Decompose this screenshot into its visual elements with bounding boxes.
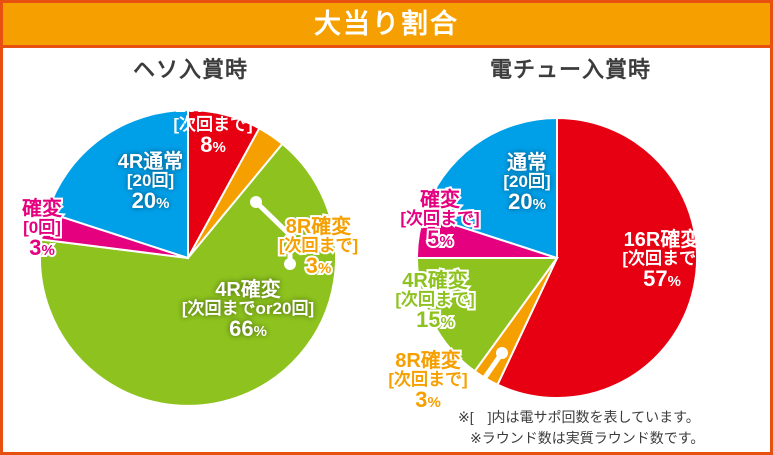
pie-chart-right: 通常 [20回] 20% 16R確変 [次回まで] 57% — [407, 108, 707, 408]
pie-chart-left: 4R通常 [20回] 20% 4R確変 [次回までor20回] 66% — [28, 98, 348, 418]
panel-header: 大当り割合 — [3, 3, 770, 48]
footnote-line-1: ※[ ]内は電サポ回数を表しています。 — [458, 407, 763, 428]
page-title: 大当り割合 — [314, 11, 459, 38]
pie-chart-panel: 大当り割合 ヘソ入賞時 電チュー入賞時 4R通常 — [0, 0, 773, 455]
footnote-line-2: ※ラウンド数は実質ラウンド数です。 — [458, 428, 763, 449]
footnotes: ※[ ]内は電サポ回数を表しています。 ※ラウンド数は実質ラウンド数です。 — [458, 407, 763, 449]
pie-right-svg — [407, 108, 707, 408]
chart-title-right: 電チュー入賞時 — [490, 52, 651, 84]
pie-left-svg — [28, 98, 348, 418]
chart-title-left: ヘソ入賞時 — [133, 52, 248, 84]
